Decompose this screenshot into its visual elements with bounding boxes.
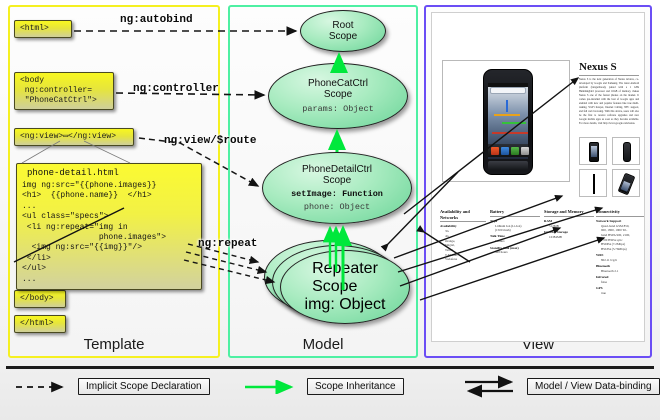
spec-heading: Availability and Networks: [440, 209, 486, 222]
spec-value: 802.11 b/g/n: [596, 258, 644, 263]
legend-item-model-view-data-binding: Model / View Data-binding: [463, 374, 660, 398]
rendered-view-page: Nexus S Nexus S is the next generation o…: [431, 12, 645, 342]
legend-label: Scope Inheritance: [307, 378, 404, 395]
scope-phonecatctrl: PhoneCatCtrlScope params: Object: [268, 63, 408, 129]
spec-value: Lithium Ion (Li-Ion) (1500 mAh): [490, 224, 540, 233]
code-html-open-tag: <html>: [14, 20, 72, 38]
solid-arrow-icon: [243, 380, 301, 394]
diagram-canvas: Template Model View <html> <body ng:cont…: [0, 0, 660, 420]
spec-column-connectivity: Connectivity Network Support Quad-band G…: [596, 209, 644, 296]
spec-heading: Battery: [490, 209, 540, 217]
scope-phonedetailctrl: PhoneDetailCtrlScope setImage: Function …: [262, 152, 412, 224]
scope-phonedetailctrl-title: PhoneDetailCtrlScope: [302, 164, 372, 186]
phone-thumbnail-edge[interactable]: [579, 169, 607, 197]
phone-screen-dock: [488, 144, 528, 157]
page-title: Nexus S: [579, 61, 617, 73]
scope-root: RootScope: [300, 10, 386, 52]
scope-phonedetailctrl-prop-phone: phone: Object: [304, 202, 370, 212]
legend-item-scope-inheritance: Scope Inheritance: [243, 378, 404, 395]
scope-repeater-title: RepeaterScope: [312, 260, 378, 296]
label-ng-controller: ng:controller: [133, 83, 219, 95]
label-ng-autobind: ng:autobind: [120, 14, 193, 26]
spec-value: 3G 4G Orange, Singtel, Telcel, T-Mobile,…: [440, 229, 486, 261]
scope-phonecatctrl-title: PhoneCatCtrlScope: [308, 78, 368, 100]
legend: Implicit Scope Declaration Scope Inherit…: [0, 374, 660, 408]
legend-item-implicit-scope-declaration: Implicit Scope Declaration: [14, 378, 210, 395]
phone-thumbnail-front[interactable]: [579, 137, 607, 165]
scope-root-title: RootScope: [329, 20, 357, 42]
double-arrow-icon: [463, 374, 521, 398]
spec-value: false: [596, 280, 644, 285]
panel-template-label: Template: [10, 336, 218, 353]
phone-thumbnail-angle[interactable]: [612, 169, 640, 197]
spec-column-storage: Storage and Memory RAM 512MB Internal St…: [544, 209, 594, 239]
label-ng-repeat: ng:repeat: [198, 238, 257, 250]
legend-label: Model / View Data-binding: [527, 378, 660, 395]
phone-spec-table: Availability and Networks Availability 3…: [440, 209, 638, 329]
panel-model-label: Model: [230, 336, 416, 353]
spec-value: 512MB: [544, 224, 594, 229]
code-html-close-tag: </html>: [14, 315, 66, 333]
scope-phonedetailctrl-prop-setimage: setImage: Function: [291, 189, 383, 199]
spec-value: 428 hours: [490, 250, 540, 255]
phone-detail-filename: phone-detail.html: [21, 167, 197, 181]
spec-value: true: [596, 291, 644, 296]
spec-value: Bluetooth 2.1: [596, 269, 644, 274]
legend-divider: [6, 366, 654, 369]
scope-phonecatctrl-prop-params: params: Object: [302, 104, 373, 114]
phone-hero-image: [483, 69, 533, 175]
code-ngview-tag: <ng:view>▭</ng:view>: [14, 128, 134, 146]
phone-description: Nexus S is the next generation of Nexus …: [579, 78, 639, 126]
phone-detail-callout: phone-detail.html img ng:src="{{phone.im…: [16, 163, 202, 290]
phone-detail-code: img ng:src="{{phone.images}} <h1> {{phon…: [21, 181, 197, 285]
title-divider: [579, 75, 639, 76]
spec-value: 16384MB: [544, 235, 594, 240]
label-ng-view-route: ng:view/$route: [164, 135, 256, 147]
scope-repeater: RepeaterScope img: Object: [280, 250, 410, 324]
phone-hero-image-frame: [442, 60, 570, 182]
spec-value: Quad-band GSM 850, 900, 1800, 1900 Tri- …: [596, 224, 644, 252]
spec-value: 6 hours: [490, 239, 540, 244]
spec-heading: Connectivity: [596, 209, 644, 217]
spec-column-battery: Battery Type Lithium Ion (Li-Ion) (1500 …: [490, 209, 540, 255]
phone-thumbnail-back[interactable]: [612, 137, 640, 165]
spec-column-availability: Availability and Networks Availability 3…: [440, 209, 486, 262]
spec-heading: Storage and Memory: [544, 209, 594, 217]
scope-repeater-prop-img: img: Object: [305, 296, 386, 314]
dashed-arrow-icon: [14, 380, 72, 394]
legend-label: Implicit Scope Declaration: [78, 378, 210, 395]
code-body-controller: <body ng:controller= "PhoneCatCtrl">: [14, 72, 114, 110]
code-body-close-tag: </body>: [14, 290, 66, 308]
